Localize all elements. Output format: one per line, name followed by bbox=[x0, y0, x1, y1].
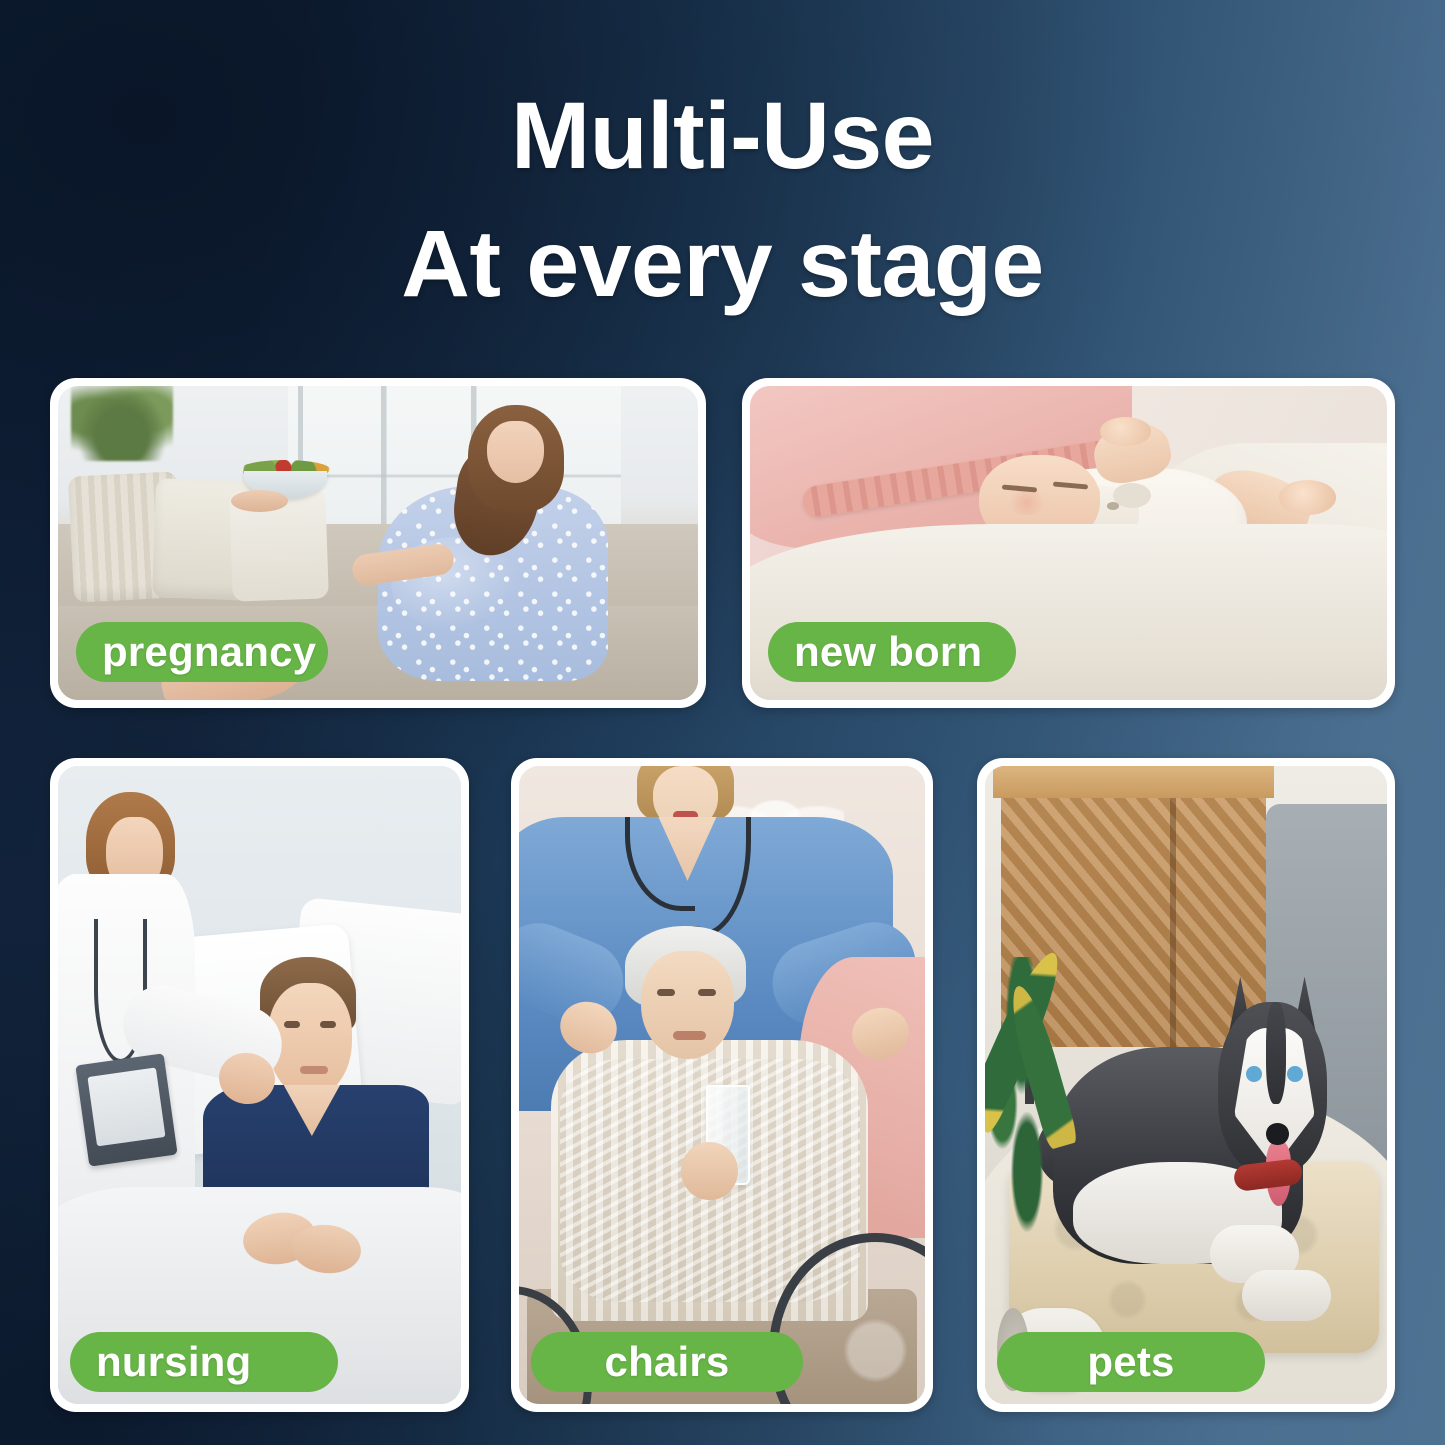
photo-nursing: nursing bbox=[58, 766, 461, 1404]
patient-eye bbox=[284, 1021, 300, 1028]
baby-cheek bbox=[1005, 490, 1050, 515]
photo-pets: pets bbox=[985, 766, 1387, 1404]
use-case-card-pregnancy[interactable]: pregnancy bbox=[50, 378, 706, 708]
elderly-eye bbox=[698, 989, 716, 996]
dog-nose bbox=[1266, 1123, 1288, 1145]
title-line-1: Multi-Use bbox=[0, 72, 1445, 200]
badge-pregnancy: pregnancy bbox=[76, 622, 328, 682]
badge-pets: pets bbox=[997, 1332, 1265, 1392]
woman-hand bbox=[231, 490, 289, 512]
plant-decor bbox=[71, 386, 173, 461]
use-case-card-pets[interactable]: pets bbox=[977, 758, 1395, 1412]
photo-pregnancy: pregnancy bbox=[58, 386, 698, 700]
elderly-face bbox=[641, 951, 734, 1059]
title-line-2: At every stage bbox=[0, 200, 1445, 328]
photo-newborn: new born bbox=[750, 386, 1387, 700]
badge-pets-label: pets bbox=[1087, 1338, 1174, 1386]
baby-fist bbox=[1100, 417, 1151, 445]
dog-paw bbox=[1242, 1270, 1330, 1321]
badge-nursing: nursing bbox=[70, 1332, 338, 1392]
photo-art-pets bbox=[985, 766, 1387, 1404]
baby-foot bbox=[1279, 480, 1336, 515]
elderly-hand bbox=[681, 1142, 738, 1199]
cabinet-top bbox=[993, 766, 1274, 798]
badge-pregnancy-label: pregnancy bbox=[102, 628, 316, 676]
badge-nursing-label: nursing bbox=[96, 1338, 251, 1386]
elderly-mouth bbox=[673, 1031, 705, 1040]
photo-art-chairs bbox=[519, 766, 925, 1404]
use-case-card-newborn[interactable]: new born bbox=[742, 378, 1395, 708]
infographic-poster: Multi-Use At every stage bbox=[0, 0, 1445, 1445]
photo-art-nursing bbox=[58, 766, 461, 1404]
badge-newborn: new born bbox=[768, 622, 1016, 682]
use-case-card-nursing[interactable]: nursing bbox=[50, 758, 469, 1412]
elderly-eye bbox=[657, 989, 675, 996]
patient-mouth bbox=[300, 1066, 328, 1074]
tablet-screen bbox=[88, 1068, 166, 1147]
page-title: Multi-Use At every stage bbox=[0, 72, 1445, 329]
badge-newborn-label: new born bbox=[794, 628, 982, 676]
photo-chairs: chairs bbox=[519, 766, 925, 1404]
cabinet-door-seam bbox=[1170, 766, 1176, 1047]
use-case-card-chairs[interactable]: chairs bbox=[511, 758, 933, 1412]
patient-eye bbox=[320, 1021, 336, 1028]
dog-forehead-stripe bbox=[1266, 1002, 1286, 1104]
dog-eye bbox=[1287, 1066, 1303, 1083]
badge-chairs: chairs bbox=[531, 1332, 803, 1392]
badge-chairs-label: chairs bbox=[605, 1338, 730, 1386]
